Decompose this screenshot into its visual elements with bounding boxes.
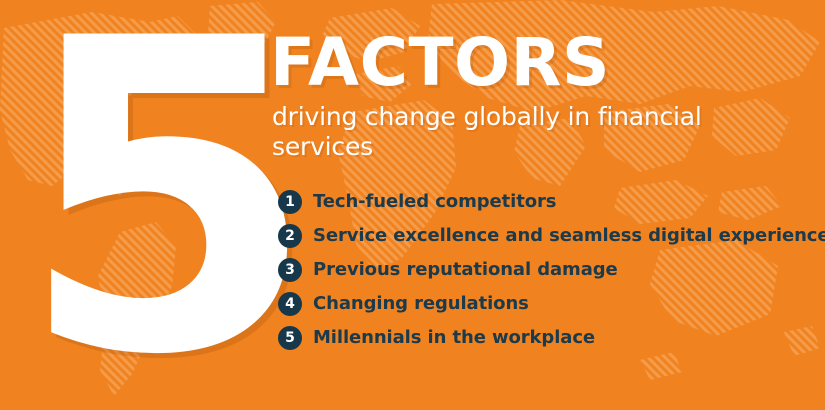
factor-number-badge: 3 [278,258,302,282]
factor-number-badge: 2 [278,224,302,248]
factor-number-badge: 5 [278,326,302,350]
factor-label: Previous reputational damage [313,258,618,282]
factor-list: 1 Tech-fueled competitors 2 Service exce… [278,185,798,355]
list-item: 5 Millennials in the workplace [278,321,798,355]
list-item: 3 Previous reputational damage [278,253,798,287]
big-number-five: 5 [18,0,278,404]
infographic-poster: 5 FACTORS driving change globally in fin… [0,0,825,410]
page-subtitle: driving change globally in financial ser… [272,102,810,162]
list-item: 4 Changing regulations [278,287,798,321]
list-item: 2 Service excellence and seamless digita… [278,219,798,253]
factor-label: Changing regulations [313,292,529,316]
page-title: FACTORS [270,26,810,100]
factor-label: Tech-fueled competitors [313,190,556,214]
headline-block: FACTORS driving change globally in finan… [270,26,810,162]
list-item: 1 Tech-fueled competitors [278,185,798,219]
factor-label: Service excellence and seamless digital … [313,224,825,248]
factor-number-badge: 1 [278,190,302,214]
factor-label: Millennials in the workplace [313,326,595,350]
factor-number-badge: 4 [278,292,302,316]
